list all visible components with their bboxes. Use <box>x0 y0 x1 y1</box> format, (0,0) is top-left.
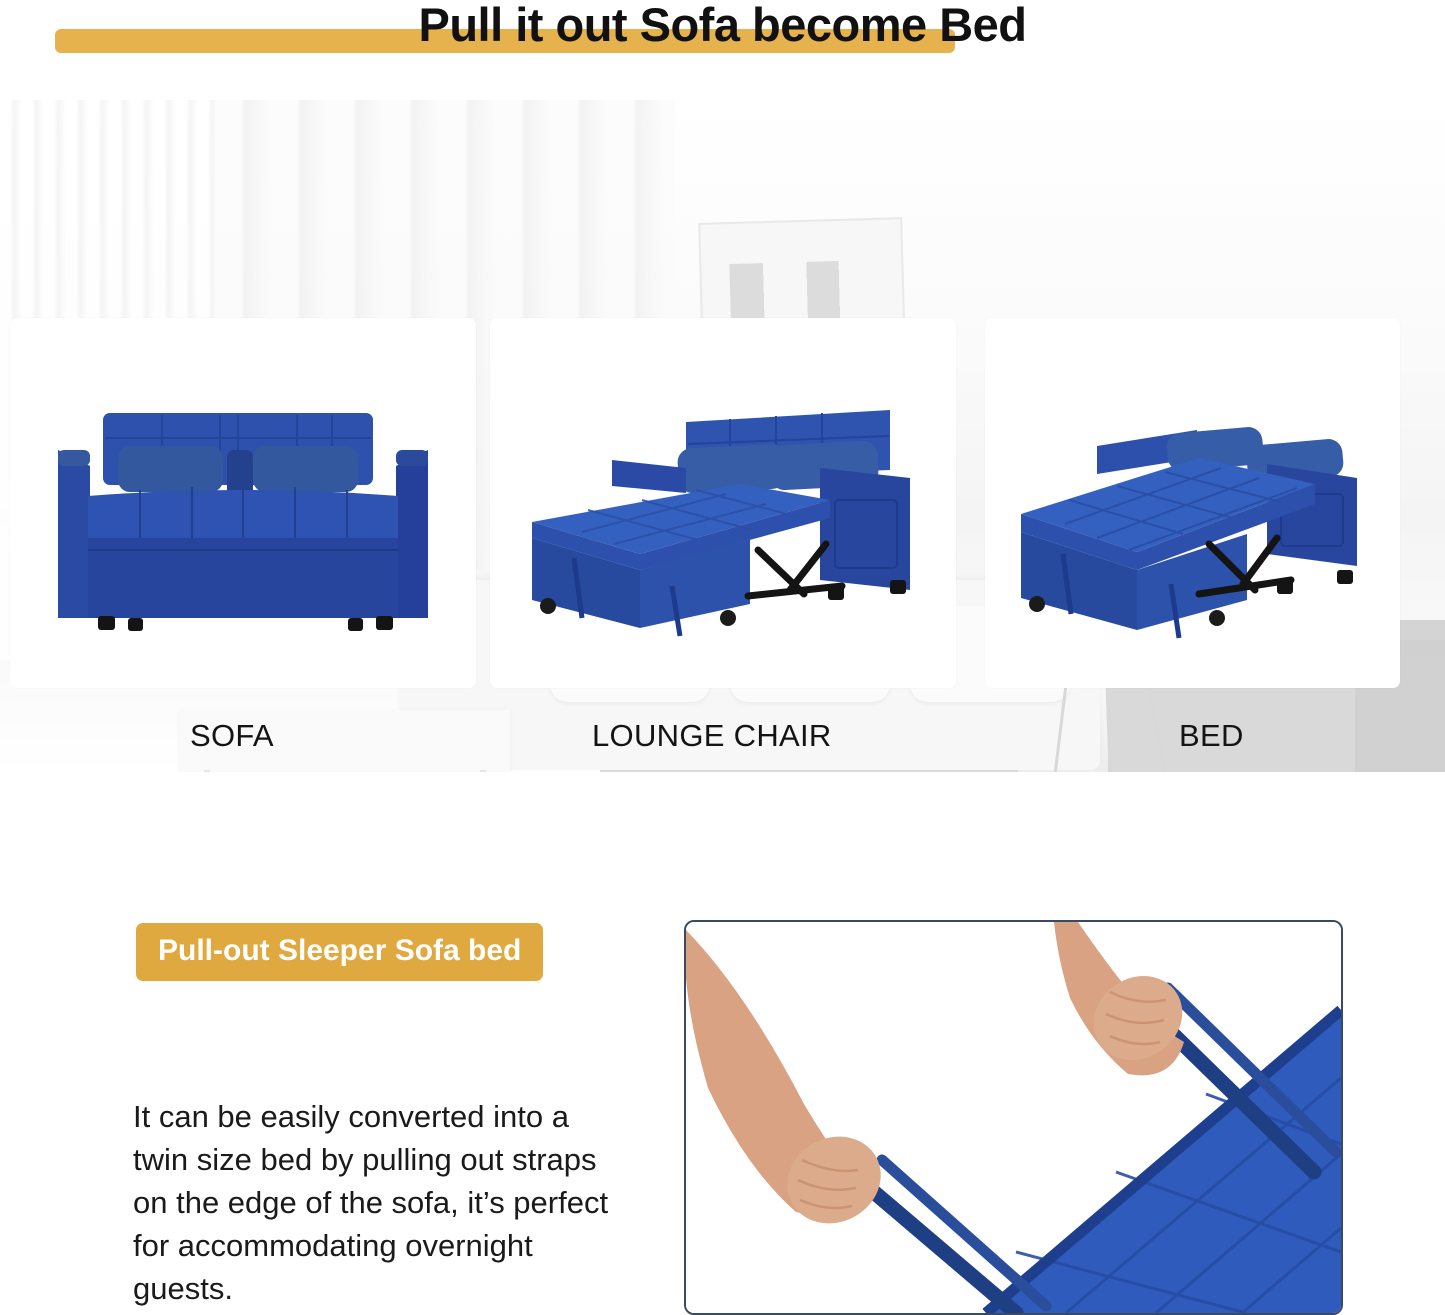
mode-label-sofa: SOFA <box>190 718 274 754</box>
lounge-chair-icon <box>490 318 956 688</box>
product-card-lounge-chair <box>490 318 956 688</box>
headline-banner: Pull it out Sofa become Bed <box>0 0 1445 100</box>
sofa-icon <box>10 318 476 688</box>
page-title: Pull it out Sofa become Bed <box>0 0 1445 52</box>
mode-label-lounge-chair: LOUNGE CHAIR <box>592 718 832 754</box>
feature-badge: Pull-out Sleeper Sofa bed <box>136 923 543 981</box>
comparison-section: SOFA LOUNGE CHAIR BED <box>0 100 1445 772</box>
product-card-bed <box>985 318 1400 688</box>
bed-icon <box>985 318 1400 688</box>
strap-demo-illustration <box>686 922 1341 1313</box>
strap-demo-photo <box>684 920 1343 1315</box>
feature-description: It can be easily converted into a twin s… <box>133 1095 613 1310</box>
mode-label-bed: BED <box>1179 718 1244 754</box>
product-card-sofa <box>10 318 476 688</box>
